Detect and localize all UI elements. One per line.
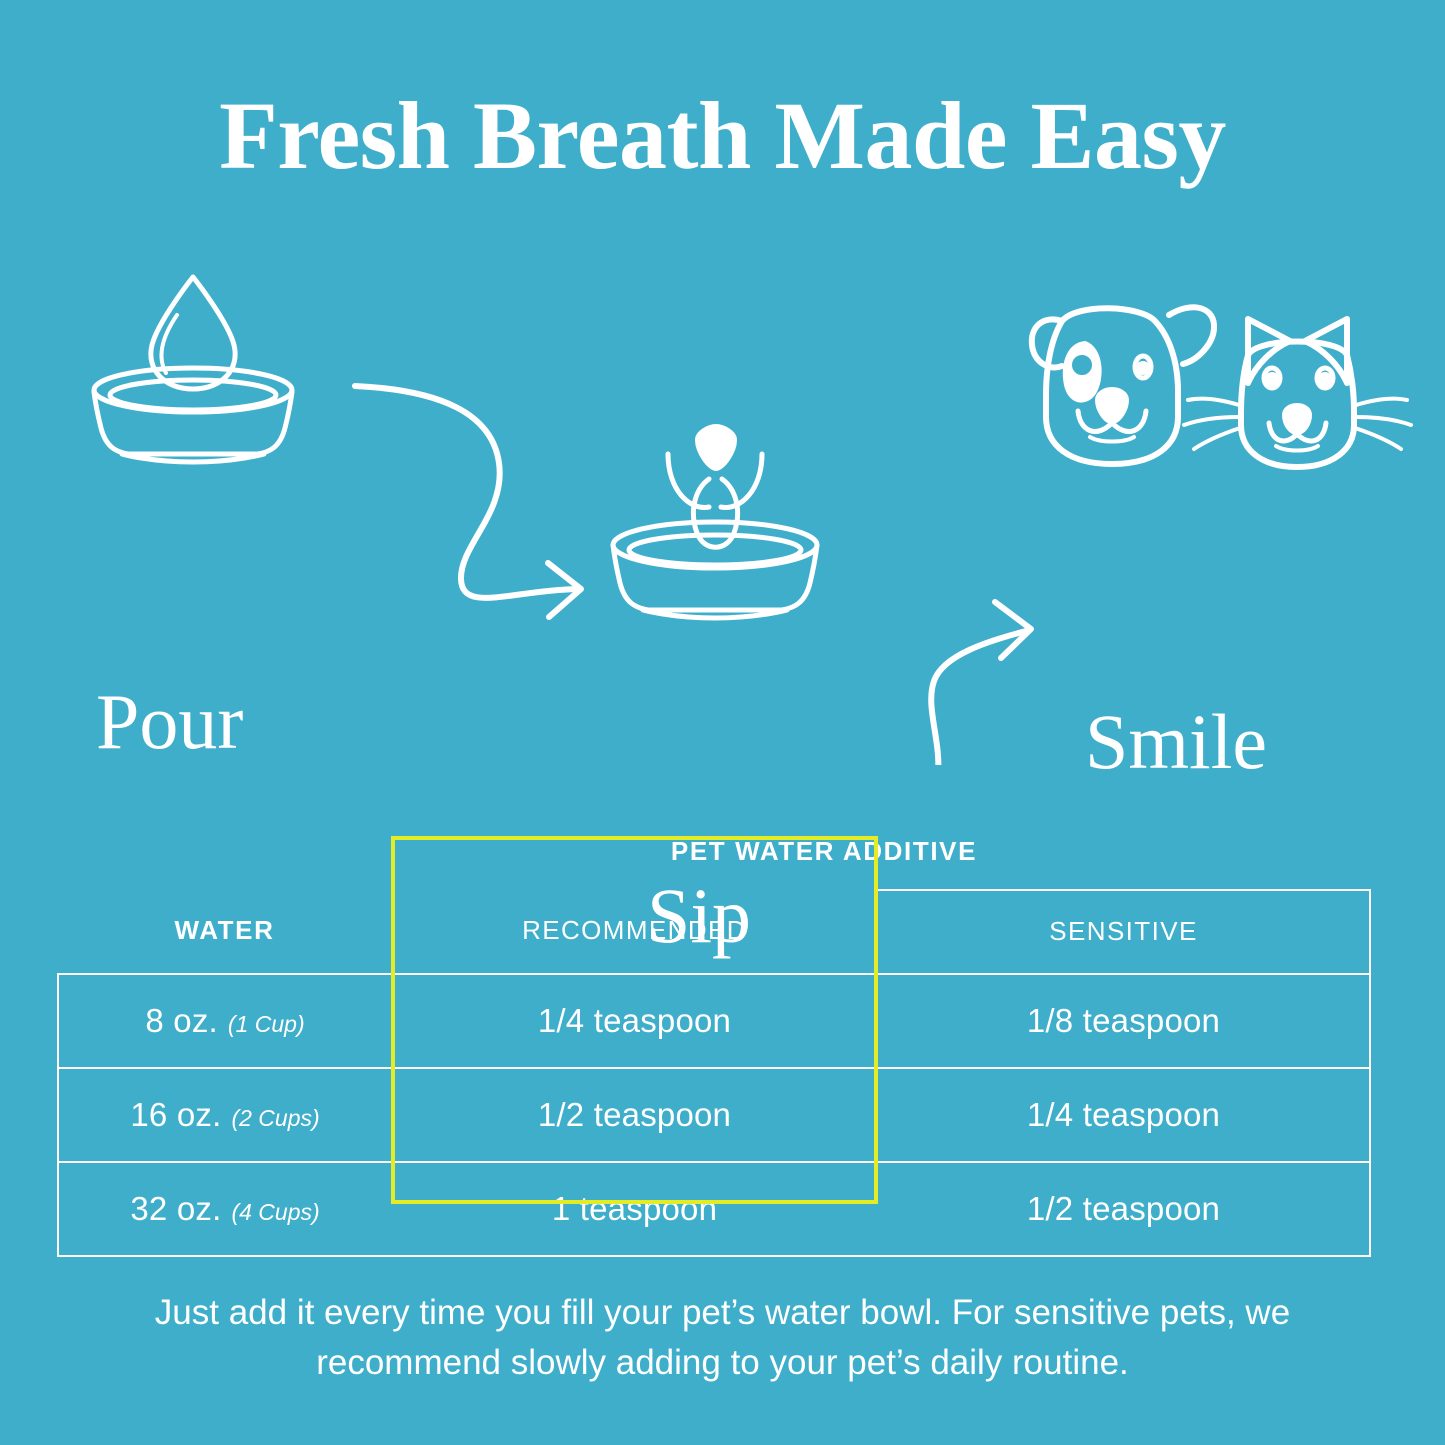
water-cups: (2 Cups) (231, 1105, 319, 1131)
column-header-recommended: RECOMMENDED (391, 890, 878, 974)
cat-face-icon (1184, 319, 1411, 467)
table-row: 8 oz.(1 Cup) 1/4 teaspoon 1/8 teaspoon (58, 974, 1370, 1068)
column-header-sensitive: SENSITIVE (878, 890, 1370, 974)
cell-water-amount: 16 oz.(2 Cups) (58, 1068, 391, 1162)
arrow-sip-to-smile-icon (868, 602, 1031, 765)
cell-water-amount: 32 oz.(4 Cups) (58, 1162, 391, 1256)
pet-water-additive-heading: PET WATER ADDITIVE (279, 836, 1369, 867)
water-volume: 8 oz. (145, 1002, 218, 1039)
water-volume: 16 oz. (130, 1096, 221, 1133)
water-volume: 32 oz. (130, 1190, 221, 1227)
cell-sensitive-dose: 1/4 teaspoon (878, 1068, 1370, 1162)
cell-sensitive-dose: 1/8 teaspoon (878, 974, 1370, 1068)
cell-recommended-dose: 1/4 teaspoon (391, 974, 878, 1068)
table-row: 16 oz.(2 Cups) 1/2 teaspoon 1/4 teaspoon (58, 1068, 1370, 1162)
steps-diagram: Pour Sip Smile (0, 245, 1445, 765)
step-label-pour: Pour (96, 683, 243, 761)
column-header-water: WATER (58, 890, 391, 974)
cell-water-amount: 8 oz.(1 Cup) (58, 974, 391, 1068)
usage-caption: Just add it every time you fill your pet… (95, 1288, 1350, 1387)
table-row: 32 oz.(4 Cups) 1 teaspoon 1/2 teaspoon (58, 1162, 1370, 1256)
cell-recommended-dose: 1 teaspoon (391, 1162, 878, 1256)
cell-recommended-dose: 1/2 teaspoon (391, 1068, 878, 1162)
dosage-table: WATER RECOMMENDED SENSITIVE 8 oz.(1 Cup)… (57, 889, 1371, 1257)
page-title: Fresh Breath Made Easy (0, 86, 1445, 187)
water-cups: (4 Cups) (231, 1199, 319, 1225)
dosage-table-section: PET WATER ADDITIVE WATER RECOMMENDED SEN… (57, 836, 1369, 1257)
bowl-with-water-drop-icon (94, 277, 292, 462)
step-label-smile: Smile (1085, 703, 1267, 781)
cell-sensitive-dose: 1/2 teaspoon (878, 1162, 1370, 1256)
water-cups: (1 Cup) (228, 1011, 305, 1037)
arrow-pour-to-sip-icon (355, 386, 581, 617)
table-header-row: WATER RECOMMENDED SENSITIVE (58, 890, 1370, 974)
dog-face-icon (1032, 307, 1214, 464)
dog-drinking-from-bowl-icon (613, 426, 817, 618)
